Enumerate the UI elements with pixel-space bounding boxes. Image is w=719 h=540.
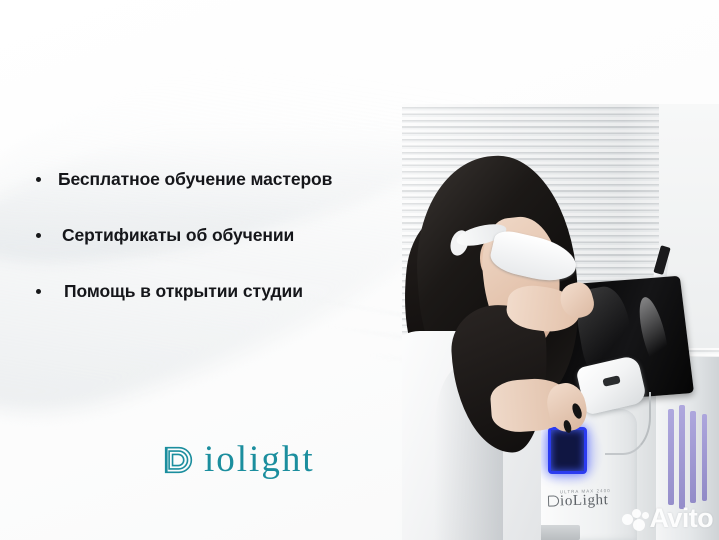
product-photo: ULTRA MAX 2400 ioLight bbox=[402, 104, 719, 540]
list-item-label: Сертификаты об обучении bbox=[58, 224, 294, 246]
brand-logo-wordmark: iolight bbox=[204, 441, 315, 479]
benefits-list: Бесплатное обучение мастеров Сертификаты… bbox=[36, 168, 406, 302]
brand-logo: iolight bbox=[160, 441, 315, 479]
avito-dots-icon bbox=[622, 507, 652, 531]
avito-wordmark: Avito bbox=[650, 505, 714, 532]
list-item: Помощь в открытии студии bbox=[36, 280, 406, 302]
blue-indicator-panel bbox=[548, 427, 587, 474]
diolight-d-mark-icon bbox=[160, 441, 198, 479]
machine-brand-d-mark-icon bbox=[548, 495, 559, 506]
bullet-dot-icon bbox=[36, 233, 41, 238]
bullet-dot-icon bbox=[36, 177, 41, 182]
bullet-dot-icon bbox=[36, 289, 41, 294]
accessory-bar bbox=[702, 414, 708, 501]
avito-watermark: Avito bbox=[622, 505, 714, 532]
slide-root: Бесплатное обучение мастеров Сертификаты… bbox=[0, 0, 719, 540]
accessory-bar bbox=[690, 411, 696, 503]
list-item-label: Помощь в открытии студии bbox=[58, 280, 303, 302]
machine-brand-main-text: ioLight bbox=[560, 492, 609, 509]
accessory-bar bbox=[679, 405, 685, 510]
photo-content: ULTRA MAX 2400 ioLight bbox=[402, 104, 719, 540]
list-item: Сертификаты об обучении bbox=[36, 224, 406, 246]
list-item: Бесплатное обучение мастеров bbox=[36, 168, 406, 190]
list-item-label: Бесплатное обучение мастеров bbox=[58, 168, 332, 190]
